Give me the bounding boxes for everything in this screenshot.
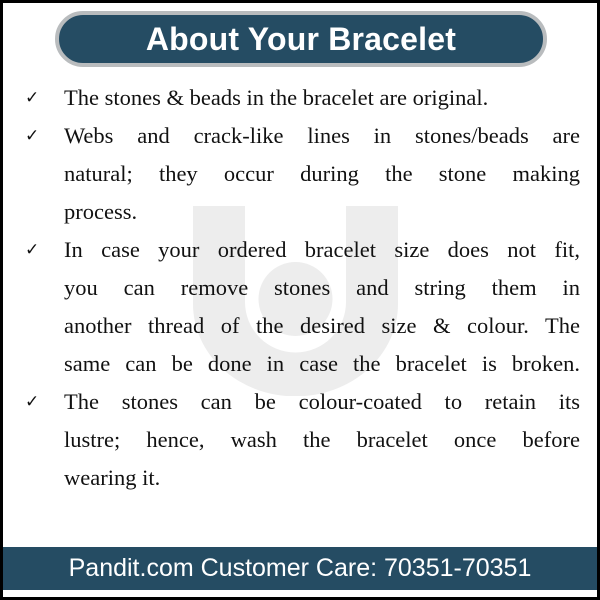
bullet-indent-spacer: ✓	[20, 421, 64, 459]
bullet-indent-spacer: ✓	[20, 345, 64, 383]
list-item-continuation: ✓you can remove stones and string them i…	[20, 269, 580, 307]
bullet-indent-spacer: ✓	[20, 269, 64, 307]
list-item-text: The stones can be colour-coated to retai…	[64, 383, 580, 421]
list-item-continuation: ✓wearing it.	[20, 459, 580, 497]
bullet-list: ✓The stones & beads in the bracelet are …	[3, 75, 597, 547]
list-item: ✓In case your ordered bracelet size does…	[20, 231, 580, 269]
footer: Pandit.com Customer Care: 70351-70351	[3, 547, 597, 597]
list-item-text: process.	[64, 193, 580, 231]
list-item-continuation: ✓same can be done in case the bracelet i…	[20, 345, 580, 383]
list-item-text: natural; they occur during the stone mak…	[64, 155, 580, 193]
page-title: About Your Bracelet	[146, 23, 456, 55]
bullet-indent-spacer: ✓	[20, 459, 64, 497]
checkmark-icon: ✓	[20, 117, 64, 155]
list-item-text: same can be done in case the bracelet is…	[64, 345, 580, 383]
list-item: ✓The stones can be colour-coated to reta…	[20, 383, 580, 421]
bullet-indent-spacer: ✓	[20, 193, 64, 231]
list-item-text: In case your ordered bracelet size does …	[64, 231, 580, 269]
bracelet-info-card: About Your Bracelet ✓The stones & beads …	[0, 0, 600, 600]
checkmark-icon: ✓	[20, 231, 64, 269]
footer-bar: Pandit.com Customer Care: 70351-70351	[3, 547, 597, 590]
list-item-text: lustre; hence, wash the bracelet once be…	[64, 421, 580, 459]
list-item-continuation: ✓natural; they occur during the stone ma…	[20, 155, 580, 193]
list-item-continuation: ✓process.	[20, 193, 580, 231]
bullet-indent-spacer: ✓	[20, 307, 64, 345]
title-pill: About Your Bracelet	[55, 11, 547, 67]
checkmark-icon: ✓	[20, 79, 64, 117]
list-item-text: The stones & beads in the bracelet are o…	[64, 79, 580, 117]
header: About Your Bracelet	[3, 3, 597, 75]
checkmark-icon: ✓	[20, 383, 64, 421]
list-item-continuation: ✓another thread of the desired size & co…	[20, 307, 580, 345]
list-item-text: another thread of the desired size & col…	[64, 307, 580, 345]
customer-care-text: Pandit.com Customer Care: 70351-70351	[69, 556, 532, 581]
list-item: ✓The stones & beads in the bracelet are …	[20, 79, 580, 117]
list-item-text: wearing it.	[64, 459, 580, 497]
bullet-indent-spacer: ✓	[20, 155, 64, 193]
list-item-text: you can remove stones and string them in	[64, 269, 580, 307]
list-item-continuation: ✓lustre; hence, wash the bracelet once b…	[20, 421, 580, 459]
list-item: ✓Webs and crack-like lines in stones/bea…	[20, 117, 580, 155]
list-item-text: Webs and crack-like lines in stones/bead…	[64, 117, 580, 155]
